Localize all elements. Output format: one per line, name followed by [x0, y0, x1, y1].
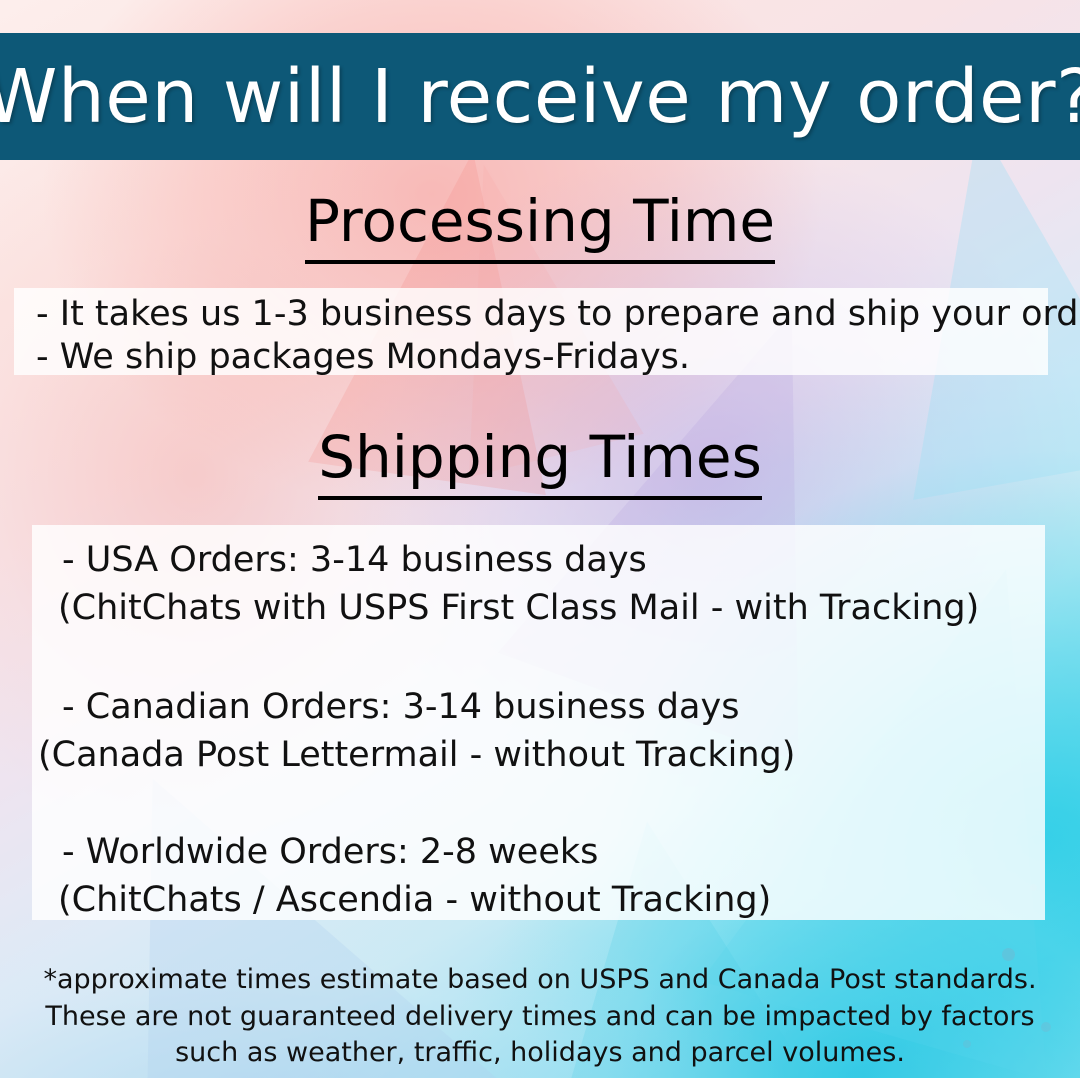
shipping-entry-main-line: - Canadian Orders: 3-14 business days: [62, 690, 739, 725]
header-banner: When will I receive my order?: [0, 33, 1080, 160]
shipping-entry-main-line: - Worldwide Orders: 2-8 weeks: [62, 835, 598, 870]
processing-time-line: - We ship packages Mondays-Fridays.: [36, 340, 690, 375]
shipping-entry-sub-line: (ChitChats with USPS First Class Mail - …: [58, 591, 979, 626]
background-bubble-1: [1002, 948, 1015, 961]
shipping-times-panel: - USA Orders: 3-14 business days (ChitCh…: [32, 525, 1045, 920]
page-title: When will I receive my order?: [0, 60, 1080, 134]
processing-time-panel: - It takes us 1-3 business days to prepa…: [14, 288, 1048, 375]
section-heading-shipping-times: Shipping Times: [0, 428, 1080, 486]
disclaimer-line: *approximate times estimate based on USP…: [0, 962, 1080, 999]
disclaimer-line: such as weather, traffic, holidays and p…: [0, 1035, 1080, 1072]
shipping-info-poster: When will I receive my order? Processing…: [0, 0, 1080, 1078]
section-heading-processing-time-text: Processing Time: [305, 187, 775, 264]
section-heading-shipping-times-text: Shipping Times: [318, 423, 762, 500]
section-heading-processing-time: Processing Time: [0, 192, 1080, 250]
disclaimer-line: These are not guaranteed delivery times …: [0, 999, 1080, 1036]
disclaimer-note: *approximate times estimate based on USP…: [0, 962, 1080, 1072]
shipping-entry-main-line: - USA Orders: 3-14 business days: [62, 543, 647, 578]
processing-time-line: - It takes us 1-3 business days to prepa…: [36, 297, 1080, 332]
shipping-entry-sub-line: (Canada Post Lettermail - without Tracki…: [38, 738, 795, 773]
shipping-entry-sub-line: (ChitChats / Ascendia - without Tracking…: [58, 883, 771, 918]
